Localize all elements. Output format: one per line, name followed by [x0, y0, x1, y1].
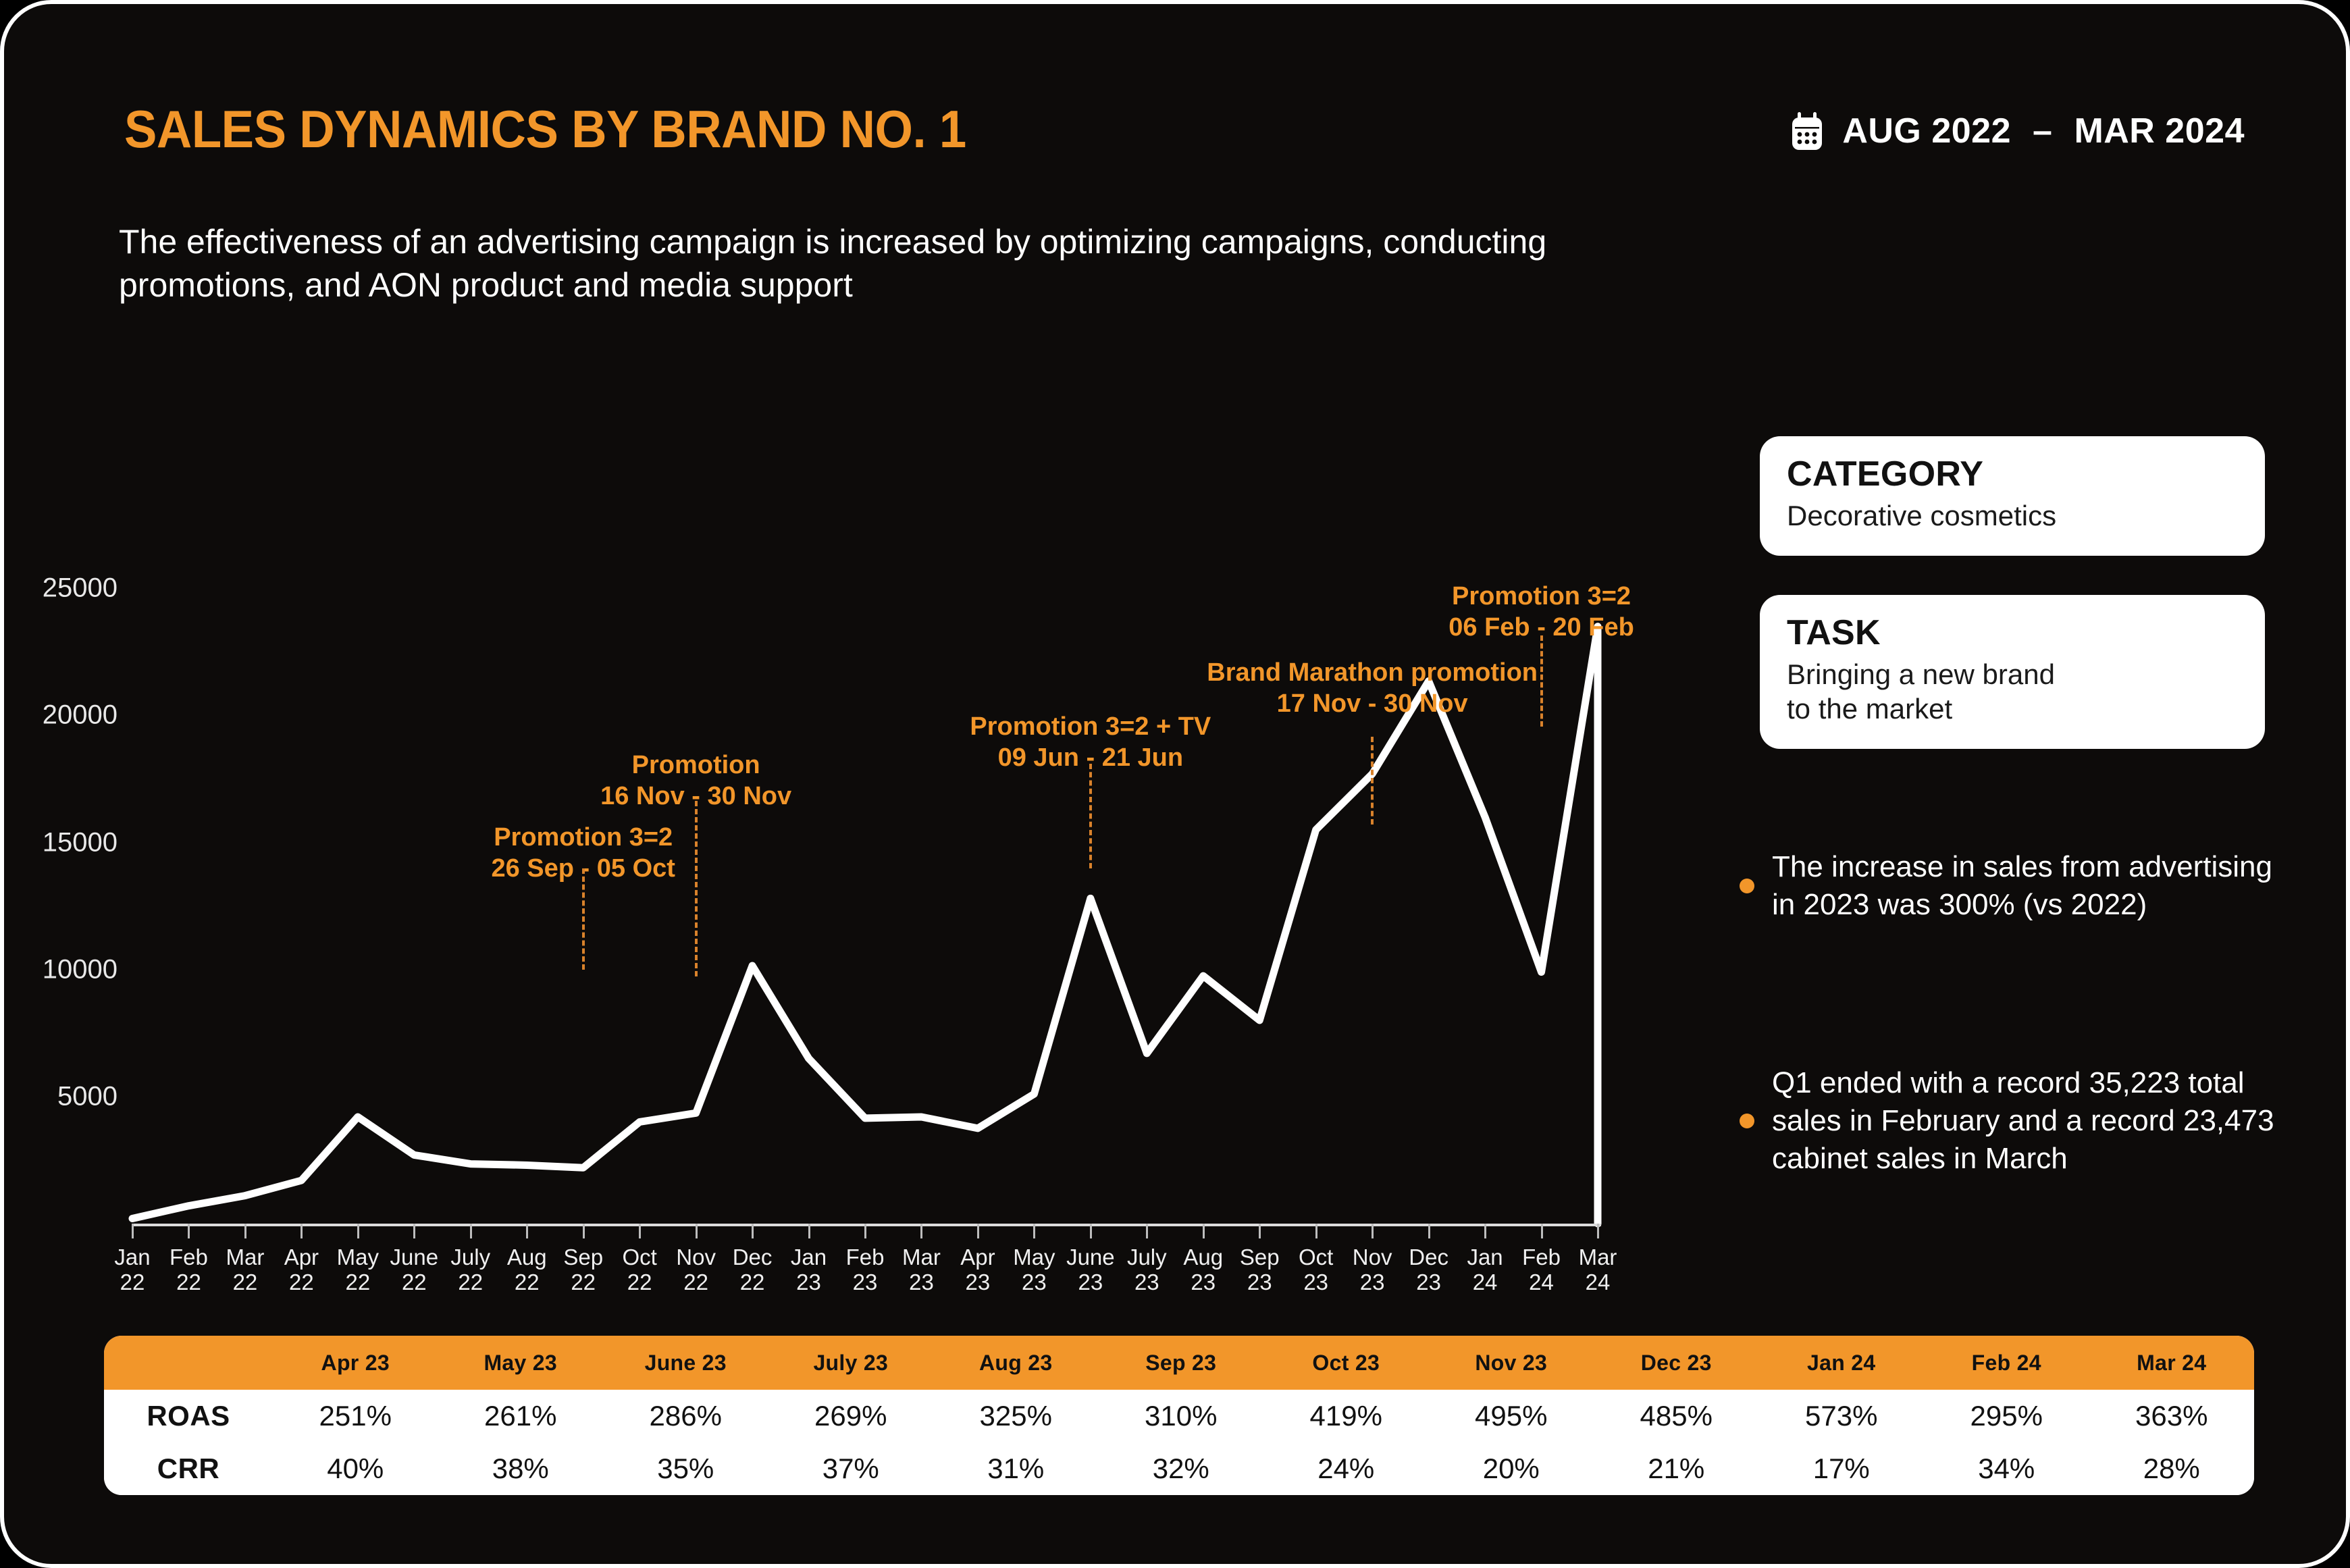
x-axis-tick [1484, 1224, 1486, 1238]
x-axis-tick [357, 1224, 359, 1238]
chart-line-path [132, 538, 1598, 1224]
x-axis-tick-label: Dec23 [1409, 1245, 1448, 1295]
table-body: ROAS251%261%286%269%325%310%419%495%485%… [104, 1390, 2254, 1495]
x-axis-tick-label: July22 [450, 1245, 490, 1295]
table-cell: 363% [2089, 1390, 2255, 1442]
table-column-header: May 23 [438, 1336, 604, 1390]
table-column-header: Jan 24 [1759, 1336, 1925, 1390]
x-axis-tick [1146, 1224, 1148, 1238]
y-axis-tick-label: 20000 [43, 700, 117, 731]
x-axis-tick-label: Dec22 [733, 1245, 773, 1295]
table-column-header: Apr 23 [273, 1336, 438, 1390]
x-axis-tick [696, 1224, 698, 1238]
x-axis-tick [1259, 1224, 1261, 1238]
table-cell: 251% [273, 1390, 438, 1442]
table-cell: 24% [1263, 1442, 1429, 1495]
x-axis-tick-label: Mar23 [902, 1245, 941, 1295]
chart-annotation-connector [582, 868, 585, 970]
table-cell: 573% [1759, 1390, 1925, 1442]
subtitle: The effectiveness of an advertising camp… [119, 220, 1604, 307]
insight-bullet-2-text: Q1 ended with a record 35,223 total sale… [1772, 1064, 2280, 1178]
table-row-label: CRR [104, 1442, 273, 1495]
x-axis-tick-label: Sep23 [1240, 1245, 1280, 1295]
x-axis-line [132, 1224, 1601, 1226]
x-axis-tick-label: Feb22 [169, 1245, 208, 1295]
table-cell: 20% [1429, 1442, 1594, 1495]
y-axis-tick-label: 5000 [57, 1081, 117, 1112]
category-card: CATEGORY Decorative cosmetics [1760, 436, 2265, 556]
x-axis-tick-label: Nov23 [1353, 1245, 1392, 1295]
x-axis-tick-label: Jan24 [1467, 1245, 1503, 1295]
table-cell: 261% [438, 1390, 604, 1442]
x-axis-tick [1541, 1224, 1543, 1238]
x-axis-tick-label: Aug22 [507, 1245, 547, 1295]
table-column-header: Oct 23 [1263, 1336, 1429, 1390]
x-axis-tick [808, 1224, 810, 1238]
table-cell: 32% [1099, 1442, 1264, 1495]
insight-bullet-2: Q1 ended with a record 35,223 total sale… [1740, 1064, 2280, 1178]
calendar-icon [1790, 112, 1825, 150]
x-axis-tick [301, 1224, 303, 1238]
x-axis-tick [920, 1224, 922, 1238]
x-axis-tick [583, 1224, 585, 1238]
x-axis-tick-label: Oct22 [622, 1245, 656, 1295]
table-cell: 40% [273, 1442, 438, 1495]
date-range: AUG 2022 – MAR 2024 [1790, 111, 2245, 151]
x-axis-tick [470, 1224, 472, 1238]
x-axis-tick [1372, 1224, 1374, 1238]
table-corner-cell [104, 1336, 273, 1390]
table-cell: 34% [1924, 1442, 2089, 1495]
x-axis-tick-label: June23 [1066, 1245, 1115, 1295]
date-start: AUG 2022 [1842, 111, 2011, 151]
table-cell: 17% [1759, 1442, 1925, 1495]
table-column-header: Dec 23 [1594, 1336, 1759, 1390]
table-cell: 419% [1263, 1390, 1429, 1442]
table-column-header: Aug 23 [933, 1336, 1099, 1390]
table-cell: 35% [603, 1442, 768, 1495]
table-column-header: Feb 24 [1924, 1336, 2089, 1390]
chart-annotation-label: Promotion 3=206 Feb - 20 Feb [1448, 581, 1634, 643]
x-axis-tick [1203, 1224, 1205, 1238]
x-axis-tick [1428, 1224, 1430, 1238]
table-header-row: Apr 23May 23June 23July 23Aug 23Sep 23Oc… [104, 1336, 2254, 1390]
chart-annotation-label: Brand Marathon promotion17 Nov - 30 Nov [1207, 658, 1538, 719]
x-axis-tick [413, 1224, 415, 1238]
table-cell: 21% [1594, 1442, 1759, 1495]
bullet-dot-icon [1740, 879, 1754, 893]
x-axis-tick [639, 1224, 641, 1238]
x-axis-tick [188, 1224, 190, 1238]
table-column-header: July 23 [768, 1336, 934, 1390]
sales-line-chart: 500010000150002000025000 Jan22Feb22Mar22… [4, 382, 1733, 1287]
table-cell: 295% [1924, 1390, 2089, 1442]
x-axis-tick-label: Oct23 [1299, 1245, 1333, 1295]
x-axis-tick-label: June22 [390, 1245, 439, 1295]
task-card-title: TASK [1787, 612, 2238, 653]
x-axis-tick-label: Apr23 [960, 1245, 995, 1295]
x-axis-tick-label: Aug23 [1183, 1245, 1223, 1295]
table-column-header: Sep 23 [1099, 1336, 1264, 1390]
insight-bullet-1: The increase in sales from advertising i… [1740, 848, 2273, 924]
x-axis-tick-label: Feb24 [1522, 1245, 1561, 1295]
table-cell: 485% [1594, 1390, 1759, 1442]
x-axis-tick-label: May23 [1013, 1245, 1055, 1295]
x-axis-tick-label: Jan23 [791, 1245, 827, 1295]
table-column-header: June 23 [603, 1336, 768, 1390]
task-card: TASK Bringing a new brandto the market [1760, 595, 2265, 749]
table-cell: 495% [1429, 1390, 1594, 1442]
x-axis-tick-label: Nov22 [676, 1245, 716, 1295]
date-end: MAR 2024 [2074, 111, 2245, 151]
table-cell: 269% [768, 1390, 934, 1442]
table-cell: 31% [933, 1442, 1099, 1495]
x-axis-tick-label: May22 [337, 1245, 379, 1295]
table-cell: 286% [603, 1390, 768, 1442]
x-axis-tick-label: July23 [1127, 1245, 1167, 1295]
x-axis-tick-label: Mar24 [1579, 1245, 1617, 1295]
y-axis-tick-label: 15000 [43, 827, 117, 858]
slide-root: SALES DYNAMICS BY BRAND NO. 1 AUG 2022 –… [0, 0, 2350, 1568]
x-axis-tick-label: Mar22 [226, 1245, 265, 1295]
chart-annotation-connector [1540, 635, 1543, 727]
x-axis-tick [1597, 1224, 1599, 1238]
chart-annotation-connector [695, 801, 698, 976]
chart-annotation-connector [1089, 764, 1092, 868]
x-axis-tick [977, 1224, 979, 1238]
chart-plot-area: 500010000150002000025000 [132, 538, 1598, 1224]
y-axis-tick-label: 10000 [43, 954, 117, 985]
table-row: CRR40%38%35%37%31%32%24%20%21%17%34%28% [104, 1442, 2254, 1495]
task-card-value: Bringing a new brandto the market [1787, 657, 2238, 726]
metrics-table: Apr 23May 23June 23July 23Aug 23Sep 23Oc… [104, 1336, 2254, 1495]
page-title: SALES DYNAMICS BY BRAND NO. 1 [124, 99, 966, 160]
table-row: ROAS251%261%286%269%325%310%419%495%485%… [104, 1390, 2254, 1442]
y-axis-tick-label: 25000 [43, 573, 117, 604]
table-cell: 37% [768, 1442, 934, 1495]
x-axis-tick [526, 1224, 528, 1238]
x-axis-tick [1033, 1224, 1035, 1238]
x-axis-tick [1090, 1224, 1092, 1238]
table-cell: 38% [438, 1442, 604, 1495]
table-row-label: ROAS [104, 1390, 273, 1442]
table-column-header: Nov 23 [1429, 1336, 1594, 1390]
chart-annotation-connector [1371, 737, 1374, 825]
table-cell: 325% [933, 1390, 1099, 1442]
insight-bullet-1-text: The increase in sales from advertising i… [1772, 848, 2273, 924]
x-axis-tick-label: Sep22 [563, 1245, 603, 1295]
x-axis-tick-label: Jan22 [114, 1245, 150, 1295]
table-cell: 310% [1099, 1390, 1264, 1442]
bullet-dot-icon [1740, 1114, 1754, 1128]
x-axis-tick [752, 1224, 754, 1238]
x-axis-tick [1315, 1224, 1317, 1238]
date-dash: – [2029, 111, 2056, 151]
x-axis-tick [244, 1224, 246, 1238]
table-cell: 28% [2089, 1442, 2255, 1495]
table-column-header: Mar 24 [2089, 1336, 2255, 1390]
x-axis-tick-label: Feb23 [846, 1245, 885, 1295]
x-axis-tick [864, 1224, 866, 1238]
x-axis-tick-label: Apr22 [284, 1245, 319, 1295]
category-card-title: CATEGORY [1787, 454, 2238, 494]
x-axis-tick [132, 1224, 134, 1238]
category-card-value: Decorative cosmetics [1787, 498, 2238, 533]
